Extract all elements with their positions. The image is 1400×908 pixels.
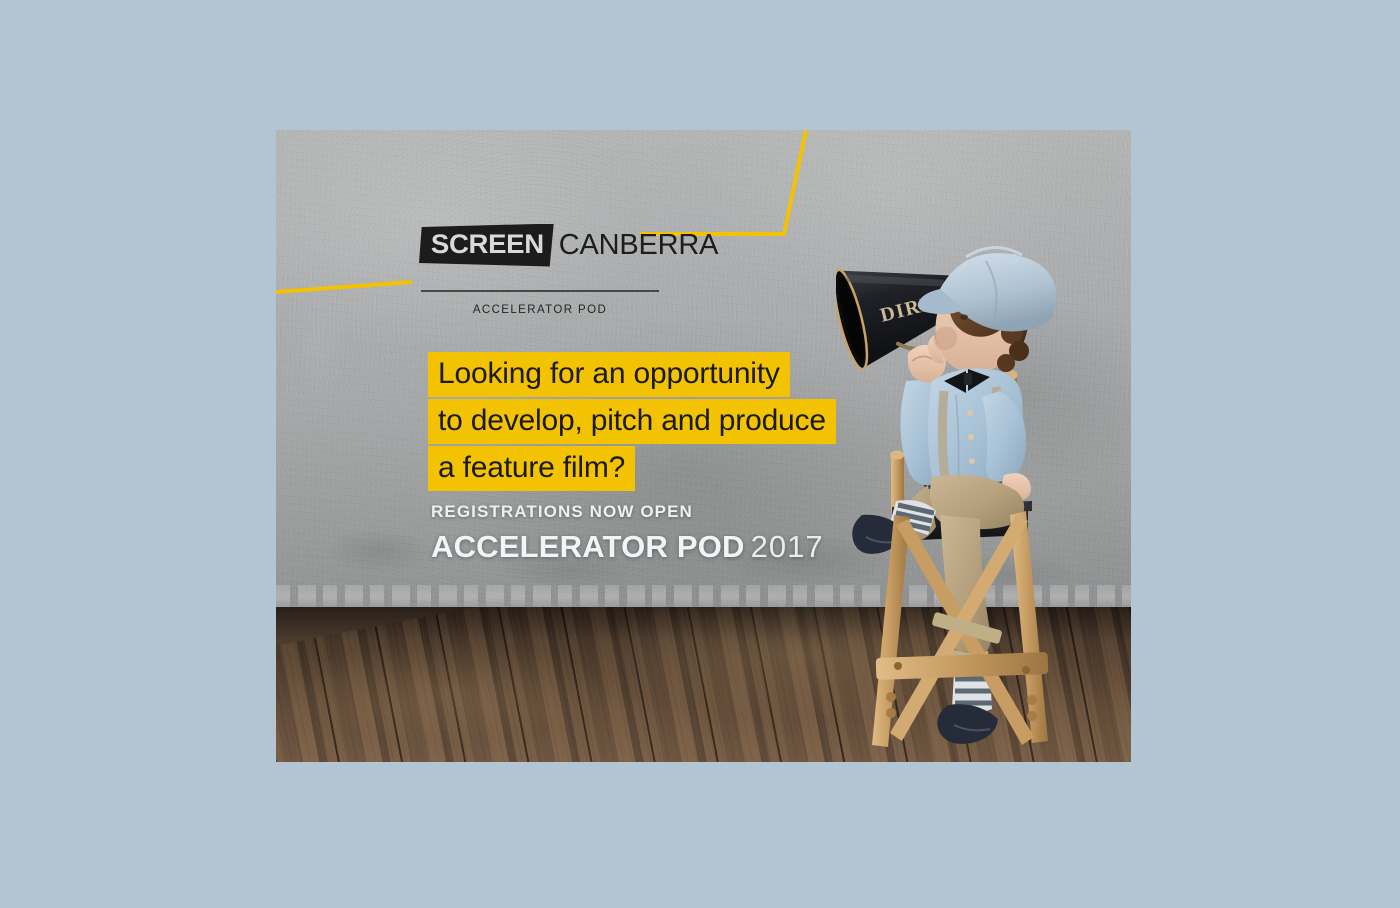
headline-line-2: to develop, pitch and produce xyxy=(428,399,836,444)
logo-screen-tag: SCREEN xyxy=(419,224,554,267)
director-boy-photo: DIRECTOR xyxy=(836,185,1131,762)
logo-divider-rule xyxy=(421,290,659,292)
registrations-kicker: REGISTRATIONS NOW OPEN xyxy=(431,502,824,522)
poster: DIRECTOR xyxy=(276,130,1131,762)
logo-subtitle: ACCELERATOR POD xyxy=(421,304,659,316)
callout-title-row: ACCELERATOR POD2017 xyxy=(431,529,824,565)
callout-year: 2017 xyxy=(751,529,824,564)
boy-head xyxy=(918,247,1057,373)
logo-screen-text: SCREEN xyxy=(431,231,544,258)
logo-wordmark-row: SCREEN CANBERRA xyxy=(419,220,679,272)
callout-block: REGISTRATIONS NOW OPEN ACCELERATOR POD20… xyxy=(431,502,824,565)
headline-line-3: a feature film? xyxy=(428,446,635,491)
headline-block: Looking for an opportunity to develop, p… xyxy=(428,352,836,493)
screen-canberra-logo: SCREEN CANBERRA ACCELERATOR POD xyxy=(419,220,679,316)
headline-line-1: Looking for an opportunity xyxy=(428,352,790,397)
subject-illustration: DIRECTOR xyxy=(836,185,1131,762)
callout-title: ACCELERATOR POD xyxy=(431,529,745,564)
logo-canberra-text: CANBERRA xyxy=(559,231,719,260)
